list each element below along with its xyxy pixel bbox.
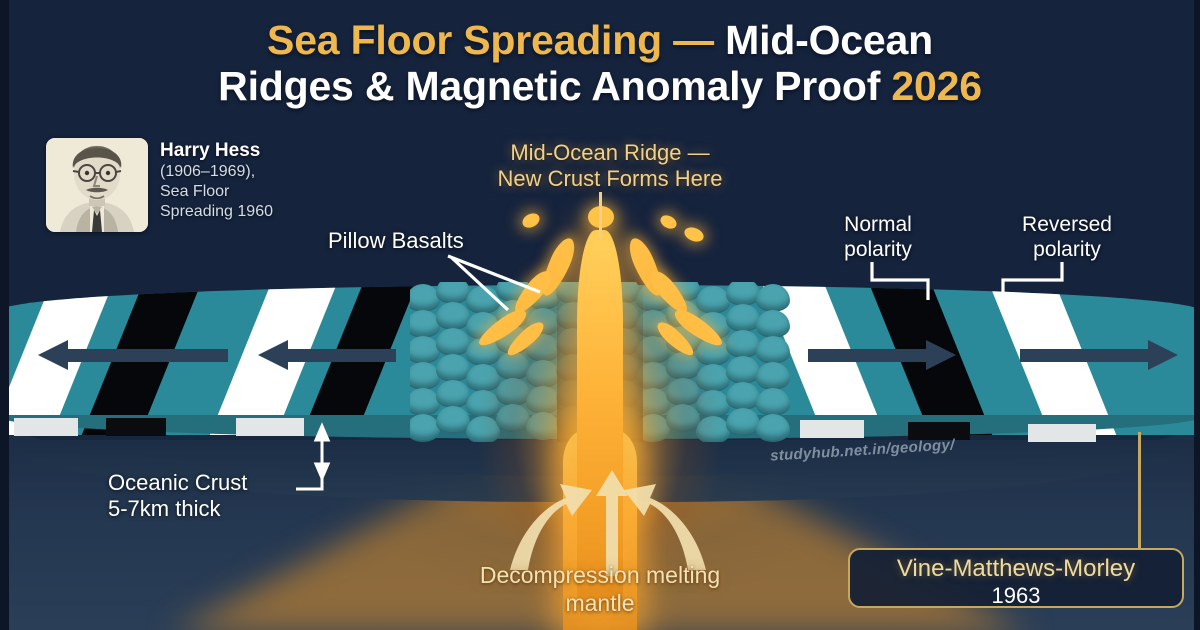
normal-polarity-line-1: Normal <box>818 212 938 237</box>
spreading-arrow-right <box>1020 340 1178 370</box>
right-frame-edge <box>1194 0 1200 630</box>
title-white-secondary: Ridges & Magnetic Anomaly Proof <box>218 63 880 109</box>
normal-polarity-line-2: polarity <box>818 237 938 262</box>
oceanic-crust-line-2: 5-7km thick <box>108 496 247 522</box>
citation-box: Vine-Matthews-Morley 1963 <box>848 548 1184 608</box>
scientist-contribution-2: Spreading 1960 <box>160 202 273 222</box>
scientist-card: Harry Hess (1906–1969), Sea Floor Spread… <box>46 138 273 232</box>
title-line-2: Ridges & Magnetic Anomaly Proof 2026 <box>0 64 1200 110</box>
citation-year: 1963 <box>850 583 1182 609</box>
citation-leader-line <box>1138 432 1141 550</box>
scientist-contribution-1: Sea Floor <box>160 182 273 202</box>
normal-polarity-label: Normal polarity <box>818 212 938 262</box>
portrait-illustration <box>46 138 148 232</box>
title-white-primary: Mid-Ocean <box>725 17 933 63</box>
stripe-edge-cap <box>106 418 166 436</box>
spreading-arrow-left <box>258 340 396 370</box>
stripe-edge-cap <box>236 418 304 436</box>
magma-conduit <box>577 230 623 610</box>
reversed-polarity-line-1: Reversed <box>1000 212 1134 237</box>
left-frame-edge <box>0 0 9 630</box>
title-em-dash: — <box>673 17 714 63</box>
scientist-name: Harry Hess <box>160 140 273 162</box>
title-gold-primary: Sea Floor Spreading <box>267 17 662 63</box>
oceanic-crust-label: Oceanic Crust 5-7km thick <box>108 470 247 523</box>
ridge-label-leader <box>599 192 602 238</box>
stripe-edge-cap <box>800 420 864 438</box>
ridge-label: Mid-Ocean Ridge — New Crust Forms Here <box>430 140 790 193</box>
stripe-edge-cap <box>1028 424 1096 442</box>
portrait-sketch-icon <box>46 138 148 232</box>
decompression-melting-line-1: Decompression melting <box>400 562 800 590</box>
decompression-melting-label: Decompression melting mantle <box>400 562 800 617</box>
title-line-1: Sea Floor Spreading — Mid-Ocean <box>0 18 1200 64</box>
scientist-dates: (1906–1969), <box>160 162 273 182</box>
ridge-label-line-2: New Crust Forms Here <box>430 166 790 192</box>
pillow-basalts-label: Pillow Basalts <box>328 228 464 254</box>
reversed-polarity-line-2: polarity <box>1000 237 1134 262</box>
oceanic-crust-line-1: Oceanic Crust <box>108 470 247 496</box>
page-title: Sea Floor Spreading — Mid-Ocean Ridges &… <box>0 18 1200 110</box>
citation-authors: Vine-Matthews-Morley <box>850 555 1182 583</box>
spreading-arrow-left <box>38 340 228 370</box>
decompression-melting-line-2: mantle <box>400 590 800 618</box>
scientist-text: Harry Hess (1906–1969), Sea Floor Spread… <box>160 138 273 222</box>
reversed-polarity-label: Reversed polarity <box>1000 212 1134 262</box>
stripe-edge-cap <box>14 418 78 436</box>
spreading-arrow-right <box>808 340 956 370</box>
infographic-canvas: Sea Floor Spreading — Mid-Ocean Ridges &… <box>0 0 1200 630</box>
title-year: 2026 <box>891 63 981 109</box>
ridge-label-line-1: Mid-Ocean Ridge — <box>430 140 790 166</box>
